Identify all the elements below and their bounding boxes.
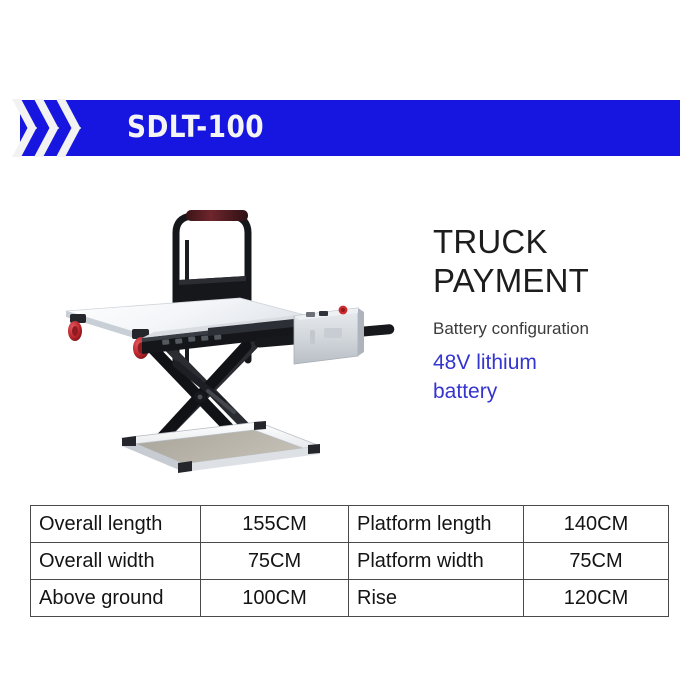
base-frame	[122, 421, 320, 473]
battery-config-value: 48V lithium battery	[433, 348, 598, 406]
spec-value: 155CM	[201, 506, 349, 543]
spec-value: 75CM	[201, 543, 349, 580]
banner-title: SDLT-100	[127, 100, 264, 156]
spec-label: Platform width	[349, 543, 524, 580]
spec-label: Platform length	[349, 506, 524, 543]
table-row: Above ground 100CM Rise 120CM	[31, 580, 669, 617]
product-image	[58, 188, 428, 486]
spec-value: 100CM	[201, 580, 349, 617]
table-row: Overall width 75CM Platform width 75CM	[31, 543, 669, 580]
specification-table: Overall length 155CM Platform length 140…	[30, 505, 669, 617]
spec-label: Rise	[349, 580, 524, 617]
spec-label: Overall length	[31, 506, 201, 543]
spec-label: Overall width	[31, 543, 201, 580]
spec-value: 140CM	[524, 506, 669, 543]
product-info-block: TRUCK PAYMENT Battery configuration 48V …	[433, 222, 683, 406]
product-title: TRUCK PAYMENT	[433, 222, 683, 300]
chevron-right-icon	[72, 100, 94, 156]
product-model-banner: SDLT-100	[20, 100, 680, 156]
battery-config-label: Battery configuration	[433, 318, 683, 340]
spec-value: 120CM	[524, 580, 669, 617]
spec-value: 75CM	[524, 543, 669, 580]
chevron-group	[28, 100, 114, 156]
table-row: Overall length 155CM Platform length 140…	[31, 506, 669, 543]
spec-label: Above ground	[31, 580, 201, 617]
caster-left	[68, 314, 86, 341]
